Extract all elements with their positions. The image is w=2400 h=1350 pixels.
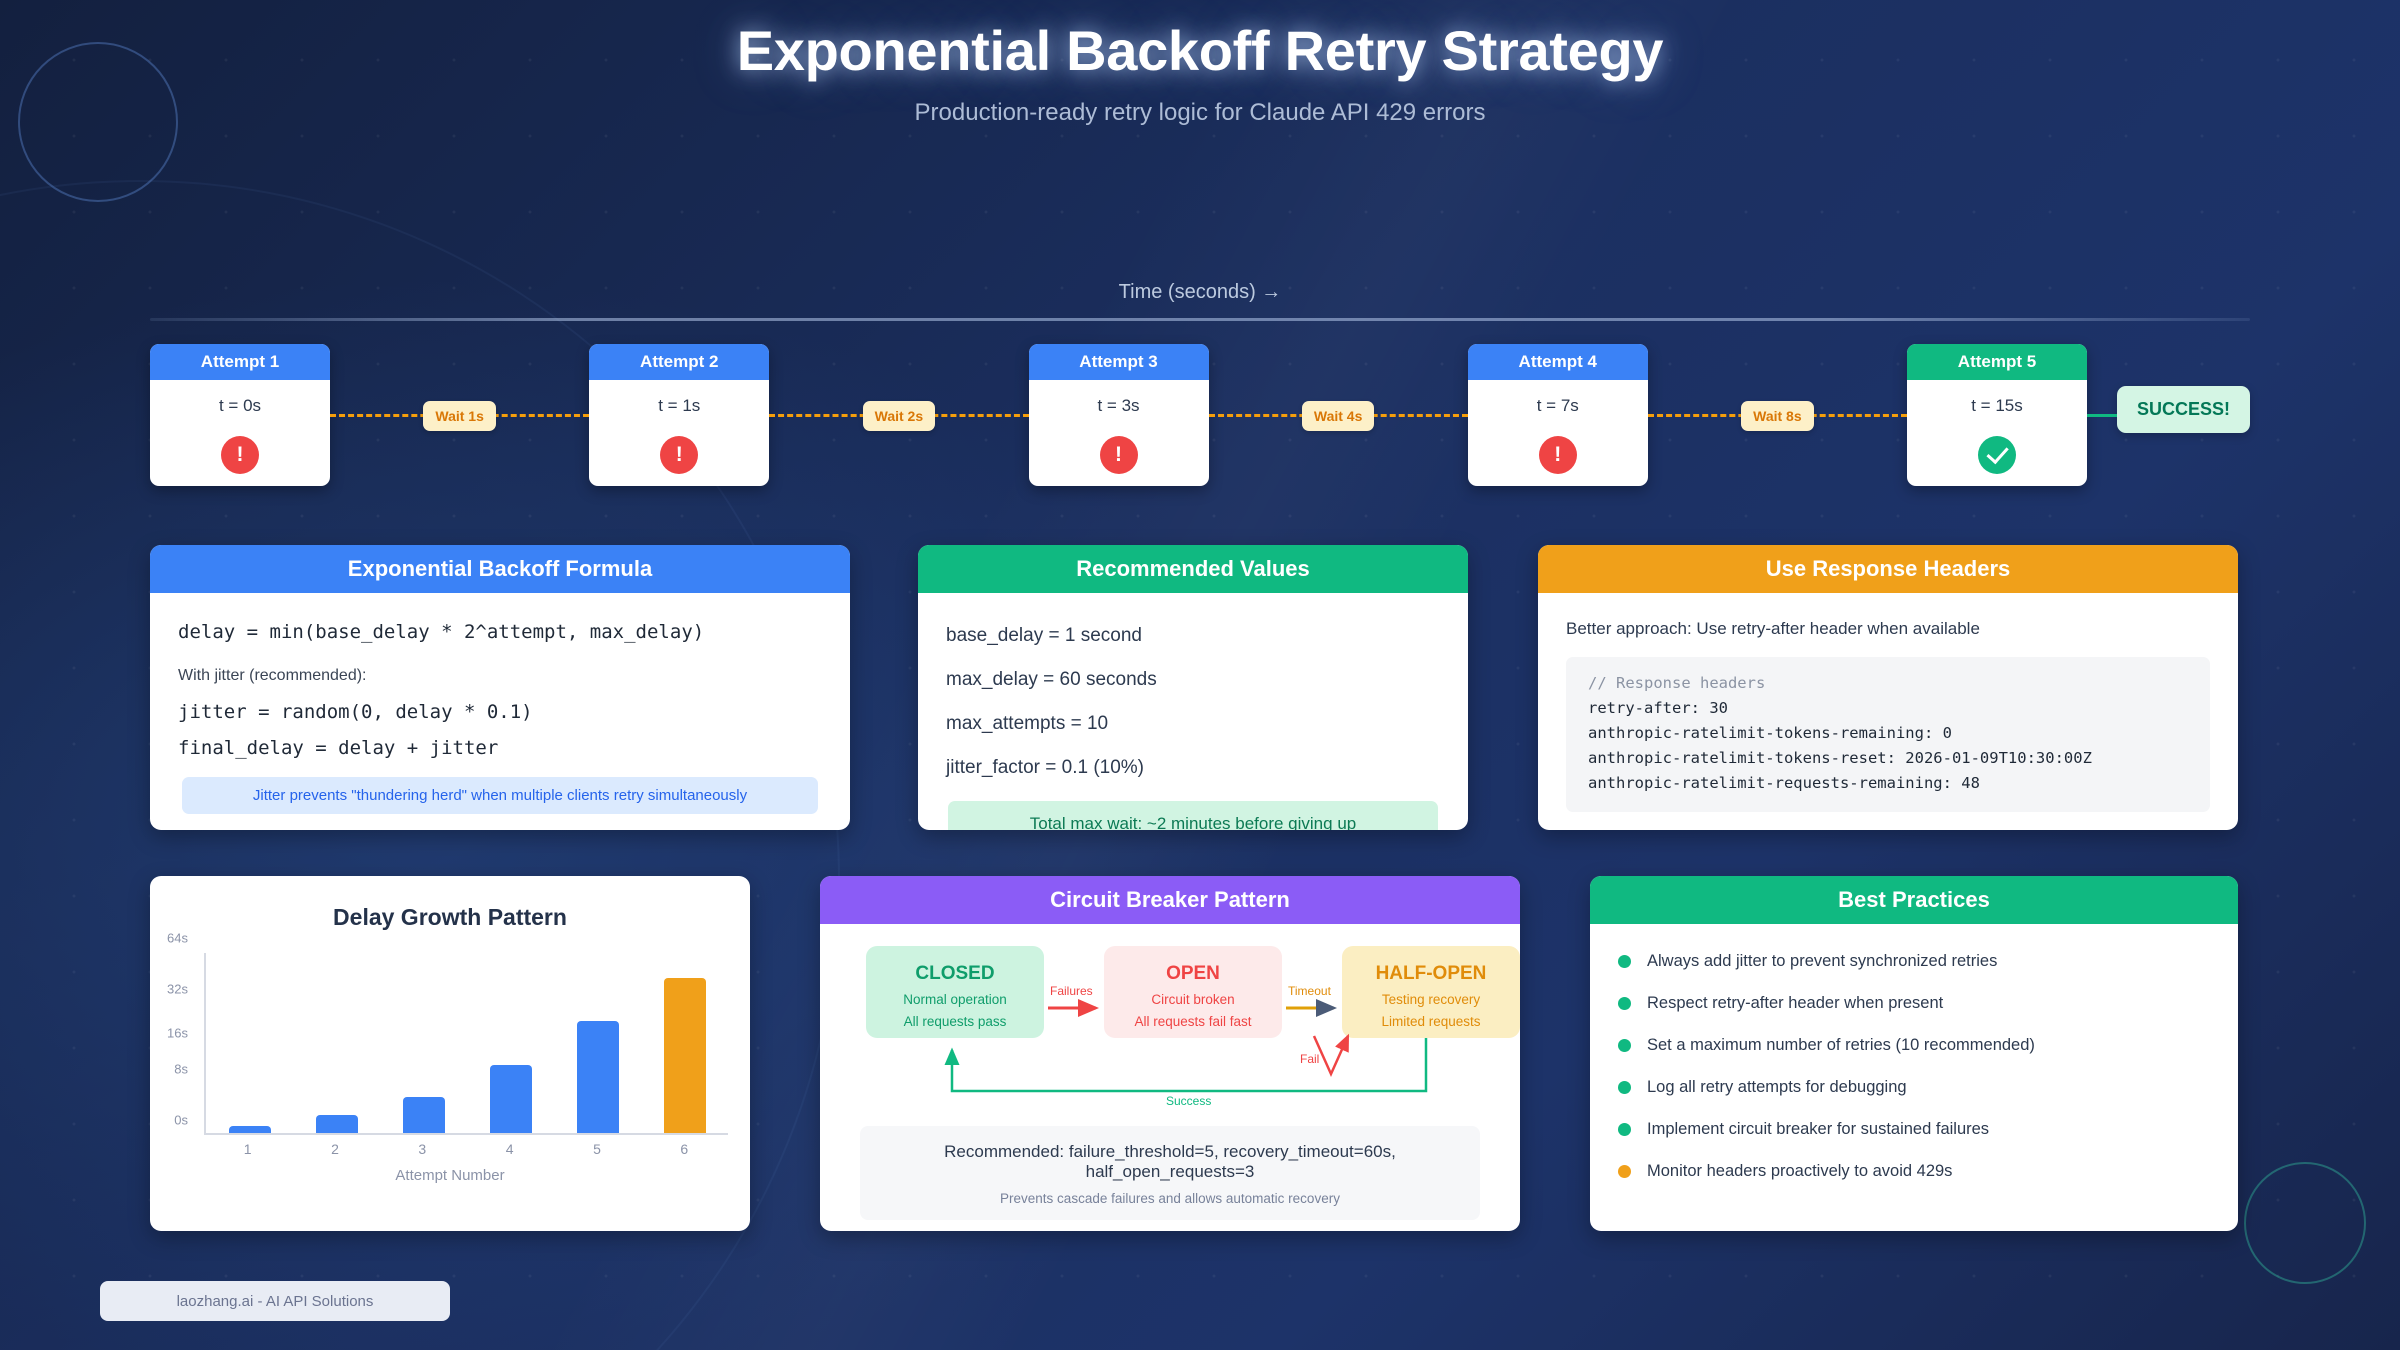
bar-4 <box>490 1065 532 1133</box>
retry-timeline: Attempt 1t = 0s!Wait 1sAttempt 2t = 1s!W… <box>150 344 2250 486</box>
state-line2: All requests fail fast <box>1104 1014 1282 1029</box>
card-body: base_delay = 1 secondmax_delay = 60 seco… <box>918 593 1468 830</box>
value-item: max_attempts = 10 <box>946 713 1440 735</box>
x-tick-label: 6 <box>663 1141 705 1157</box>
bar-5 <box>577 1021 619 1133</box>
card-body: delay = min(base_delay * 2^attempt, max_… <box>150 621 850 814</box>
error-exclamation-icon: ! <box>1539 436 1577 474</box>
state-open: OPEN Circuit broken All requests fail fa… <box>1104 946 1282 1038</box>
bar-3 <box>403 1097 445 1133</box>
code-line: anthropic-ratelimit-tokens-reset: 2026-0… <box>1588 746 2188 771</box>
value-item: base_delay = 1 second <box>946 625 1440 647</box>
code-line: anthropic-ratelimit-tokens-remaining: 0 <box>1588 721 2188 746</box>
formula-callout: Jitter prevents "thundering herd" when m… <box>182 777 818 814</box>
success-check-icon <box>1978 436 2016 474</box>
best-practices-list: Always add jitter to prevent synchronize… <box>1618 924 2210 1181</box>
decorative-circle-bottom-right <box>2244 1162 2366 1284</box>
headers-intro: Better approach: Use retry-after header … <box>1566 619 2210 639</box>
state-closed: CLOSED Normal operation All requests pas… <box>866 946 1044 1038</box>
values-callout: Total max wait: ~2 minutes before giving… <box>948 801 1438 830</box>
best-practice-item: Log all retry attempts for debugging <box>1618 1078 2210 1097</box>
chart-y-axis: 0s8s16s32s64s <box>150 953 196 1135</box>
attempt-body: t = 15s <box>1907 380 2087 486</box>
best-practice-text: Respect retry-after header when present <box>1647 994 1943 1013</box>
chart-title: Delay Growth Pattern <box>150 904 750 931</box>
best-practice-text: Set a maximum number of retries (10 reco… <box>1647 1036 2035 1055</box>
attempt-title: Attempt 1 <box>150 344 330 380</box>
state-half-open: HALF-OPEN Testing recovery Limited reque… <box>1342 946 1520 1038</box>
best-practice-text: Implement circuit breaker for sustained … <box>1647 1120 1989 1139</box>
attempt-time: t = 0s <box>150 380 330 416</box>
attempt-card-4[interactable]: Attempt 4t = 7s! <box>1468 344 1648 486</box>
attempt-body: t = 0s! <box>150 380 330 486</box>
timeline-axis-line <box>150 318 2250 321</box>
wait-badge: Wait 2s <box>863 401 936 431</box>
timeline-row: Attempt 1t = 0s!Wait 1sAttempt 2t = 1s!W… <box>150 344 2250 486</box>
x-tick-label: 2 <box>314 1141 356 1157</box>
y-tick-label: 8s <box>174 1062 188 1077</box>
state-line2: Limited requests <box>1342 1014 1520 1029</box>
attempt-card-5[interactable]: Attempt 5t = 15s <box>1907 344 2087 486</box>
best-practice-item: Implement circuit breaker for sustained … <box>1618 1120 2210 1139</box>
page-title: Exponential Backoff Retry Strategy <box>0 18 2400 83</box>
value-item: max_delay = 60 seconds <box>946 669 1440 691</box>
y-tick-label: 32s <box>167 981 188 996</box>
wait-badge: Wait 8s <box>1741 401 1814 431</box>
attempt-body: t = 3s! <box>1029 380 1209 486</box>
attempt-body: t = 7s! <box>1468 380 1648 486</box>
card-use-response-headers: Use Response Headers Better approach: Us… <box>1538 545 2238 830</box>
settings-description: Prevents cascade failures and allows aut… <box>870 1191 1470 1206</box>
transition-label-timeout: Timeout <box>1288 984 1331 998</box>
bullet-dot-icon <box>1618 1165 1631 1178</box>
card-body: Always add jitter to prevent synchronize… <box>1590 924 2238 1181</box>
best-practice-item: Respect retry-after header when present <box>1618 994 2210 1013</box>
code-line: // Response headers <box>1588 671 2188 696</box>
best-practice-item: Monitor headers proactively to avoid 429… <box>1618 1162 2210 1181</box>
transition-label-failures: Failures <box>1050 984 1093 998</box>
error-exclamation-icon: ! <box>660 436 698 474</box>
wait-gap-4: Wait 8s <box>1648 344 1907 486</box>
bullet-dot-icon <box>1618 955 1631 968</box>
formula-final-delay: final_delay = delay + jitter <box>178 737 822 759</box>
code-line: anthropic-ratelimit-requests-remaining: … <box>1588 771 2188 796</box>
card-body: CLOSED Normal operation All requests pas… <box>820 946 1520 1220</box>
attempt-card-1[interactable]: Attempt 1t = 0s! <box>150 344 330 486</box>
error-exclamation-icon: ! <box>1100 436 1138 474</box>
x-tick-label: 5 <box>576 1141 618 1157</box>
settings-recommended: Recommended: failure_threshold=5, recove… <box>870 1142 1470 1182</box>
card-exponential-backoff-formula: Exponential Backoff Formula delay = min(… <box>150 545 850 830</box>
best-practice-text: Monitor headers proactively to avoid 429… <box>1647 1162 1952 1181</box>
attempt-time: t = 15s <box>1907 380 2087 416</box>
bar-1 <box>229 1126 271 1133</box>
bullet-dot-icon <box>1618 997 1631 1010</box>
attempt-card-3[interactable]: Attempt 3t = 3s! <box>1029 344 1209 486</box>
footer-brand-badge: laozhang.ai - AI API Solutions <box>100 1281 450 1321</box>
chart-x-axis: 123456 <box>204 1141 728 1157</box>
wait-gap-1: Wait 1s <box>330 344 589 486</box>
y-tick-label: 64s <box>167 931 188 946</box>
attempt-title: Attempt 5 <box>1907 344 2087 380</box>
state-line1: Normal operation <box>866 992 1044 1007</box>
attempt-time: t = 7s <box>1468 380 1648 416</box>
attempt-title: Attempt 3 <box>1029 344 1209 380</box>
card-circuit-breaker-pattern: Circuit Breaker Pattern CLOSED Normal op… <box>820 876 1520 1231</box>
y-tick-label: 0s <box>174 1113 188 1128</box>
value-item: jitter_factor = 0.1 (10%) <box>946 757 1440 779</box>
state-name: HALF-OPEN <box>1342 963 1520 985</box>
best-practice-item: Set a maximum number of retries (10 reco… <box>1618 1036 2210 1055</box>
card-delay-growth-chart: Delay Growth Pattern 0s8s16s32s64s 12345… <box>150 876 750 1231</box>
attempt-card-2[interactable]: Attempt 2t = 1s! <box>589 344 769 486</box>
chart-x-axis-label: Attempt Number <box>150 1167 750 1184</box>
card-recommended-values: Recommended Values base_delay = 1 second… <box>918 545 1468 830</box>
attempt-time: t = 1s <box>589 380 769 416</box>
formula-jitter: jitter = random(0, delay * 0.1) <box>178 701 822 723</box>
card-title: Use Response Headers <box>1538 545 2238 593</box>
success-badge: SUCCESS! <box>2117 386 2250 433</box>
x-tick-label: 3 <box>401 1141 443 1157</box>
timeline-axis-label: Time (seconds) → <box>0 281 2400 304</box>
bar-6 <box>664 978 706 1133</box>
best-practice-item: Always add jitter to prevent synchronize… <box>1618 952 2210 971</box>
circuit-breaker-settings: Recommended: failure_threshold=5, recove… <box>860 1126 1480 1220</box>
response-headers-code-block: // Response headersretry-after: 30anthro… <box>1566 657 2210 812</box>
formula-note: With jitter (recommended): <box>178 667 822 685</box>
attempt-time: t = 3s <box>1029 380 1209 416</box>
state-name: OPEN <box>1104 963 1282 985</box>
code-line: retry-after: 30 <box>1588 696 2188 721</box>
card-title: Exponential Backoff Formula <box>150 545 850 593</box>
bullet-dot-icon <box>1618 1039 1631 1052</box>
card-title: Best Practices <box>1590 876 2238 924</box>
card-body: Better approach: Use retry-after header … <box>1538 619 2238 812</box>
arrow-half-open-success-to-closed <box>952 1038 1426 1091</box>
x-tick-label: 1 <box>227 1141 269 1157</box>
recommended-values-list: base_delay = 1 secondmax_delay = 60 seco… <box>946 593 1440 779</box>
attempt-title: Attempt 4 <box>1468 344 1648 380</box>
best-practice-text: Log all retry attempts for debugging <box>1647 1078 1907 1097</box>
chart-plot-area <box>204 953 728 1135</box>
wait-gap-2: Wait 2s <box>769 344 1028 486</box>
wait-gap-3: Wait 4s <box>1209 344 1468 486</box>
best-practice-text: Always add jitter to prevent synchronize… <box>1647 952 1997 971</box>
wait-badge: Wait 1s <box>423 401 496 431</box>
page-subtitle: Production-ready retry logic for Claude … <box>0 99 2400 127</box>
transition-label-success: Success <box>1166 1094 1211 1108</box>
state-line1: Testing recovery <box>1342 992 1520 1007</box>
error-exclamation-icon: ! <box>221 436 259 474</box>
card-title: Recommended Values <box>918 545 1468 593</box>
x-tick-label: 4 <box>489 1141 531 1157</box>
transition-label-fail: Fail <box>1300 1052 1319 1066</box>
bullet-dot-icon <box>1618 1123 1631 1136</box>
state-name: CLOSED <box>866 963 1044 985</box>
chart-area: 0s8s16s32s64s 123456 Attempt Number <box>150 953 750 1173</box>
success-connector <box>2087 344 2117 486</box>
card-best-practices: Best Practices Always add jitter to prev… <box>1590 876 2238 1231</box>
formula-main: delay = min(base_delay * 2^attempt, max_… <box>178 621 822 643</box>
attempt-body: t = 1s! <box>589 380 769 486</box>
page-header: Exponential Backoff Retry Strategy Produ… <box>0 0 2400 127</box>
card-title: Circuit Breaker Pattern <box>820 876 1520 924</box>
wait-badge: Wait 4s <box>1302 401 1375 431</box>
attempt-title: Attempt 2 <box>589 344 769 380</box>
bar-2 <box>316 1115 358 1133</box>
state-line1: Circuit broken <box>1104 992 1282 1007</box>
y-tick-label: 16s <box>167 1025 188 1040</box>
circuit-breaker-diagram: CLOSED Normal operation All requests pas… <box>848 946 1492 1096</box>
state-line2: All requests pass <box>866 1014 1044 1029</box>
bullet-dot-icon <box>1618 1081 1631 1094</box>
